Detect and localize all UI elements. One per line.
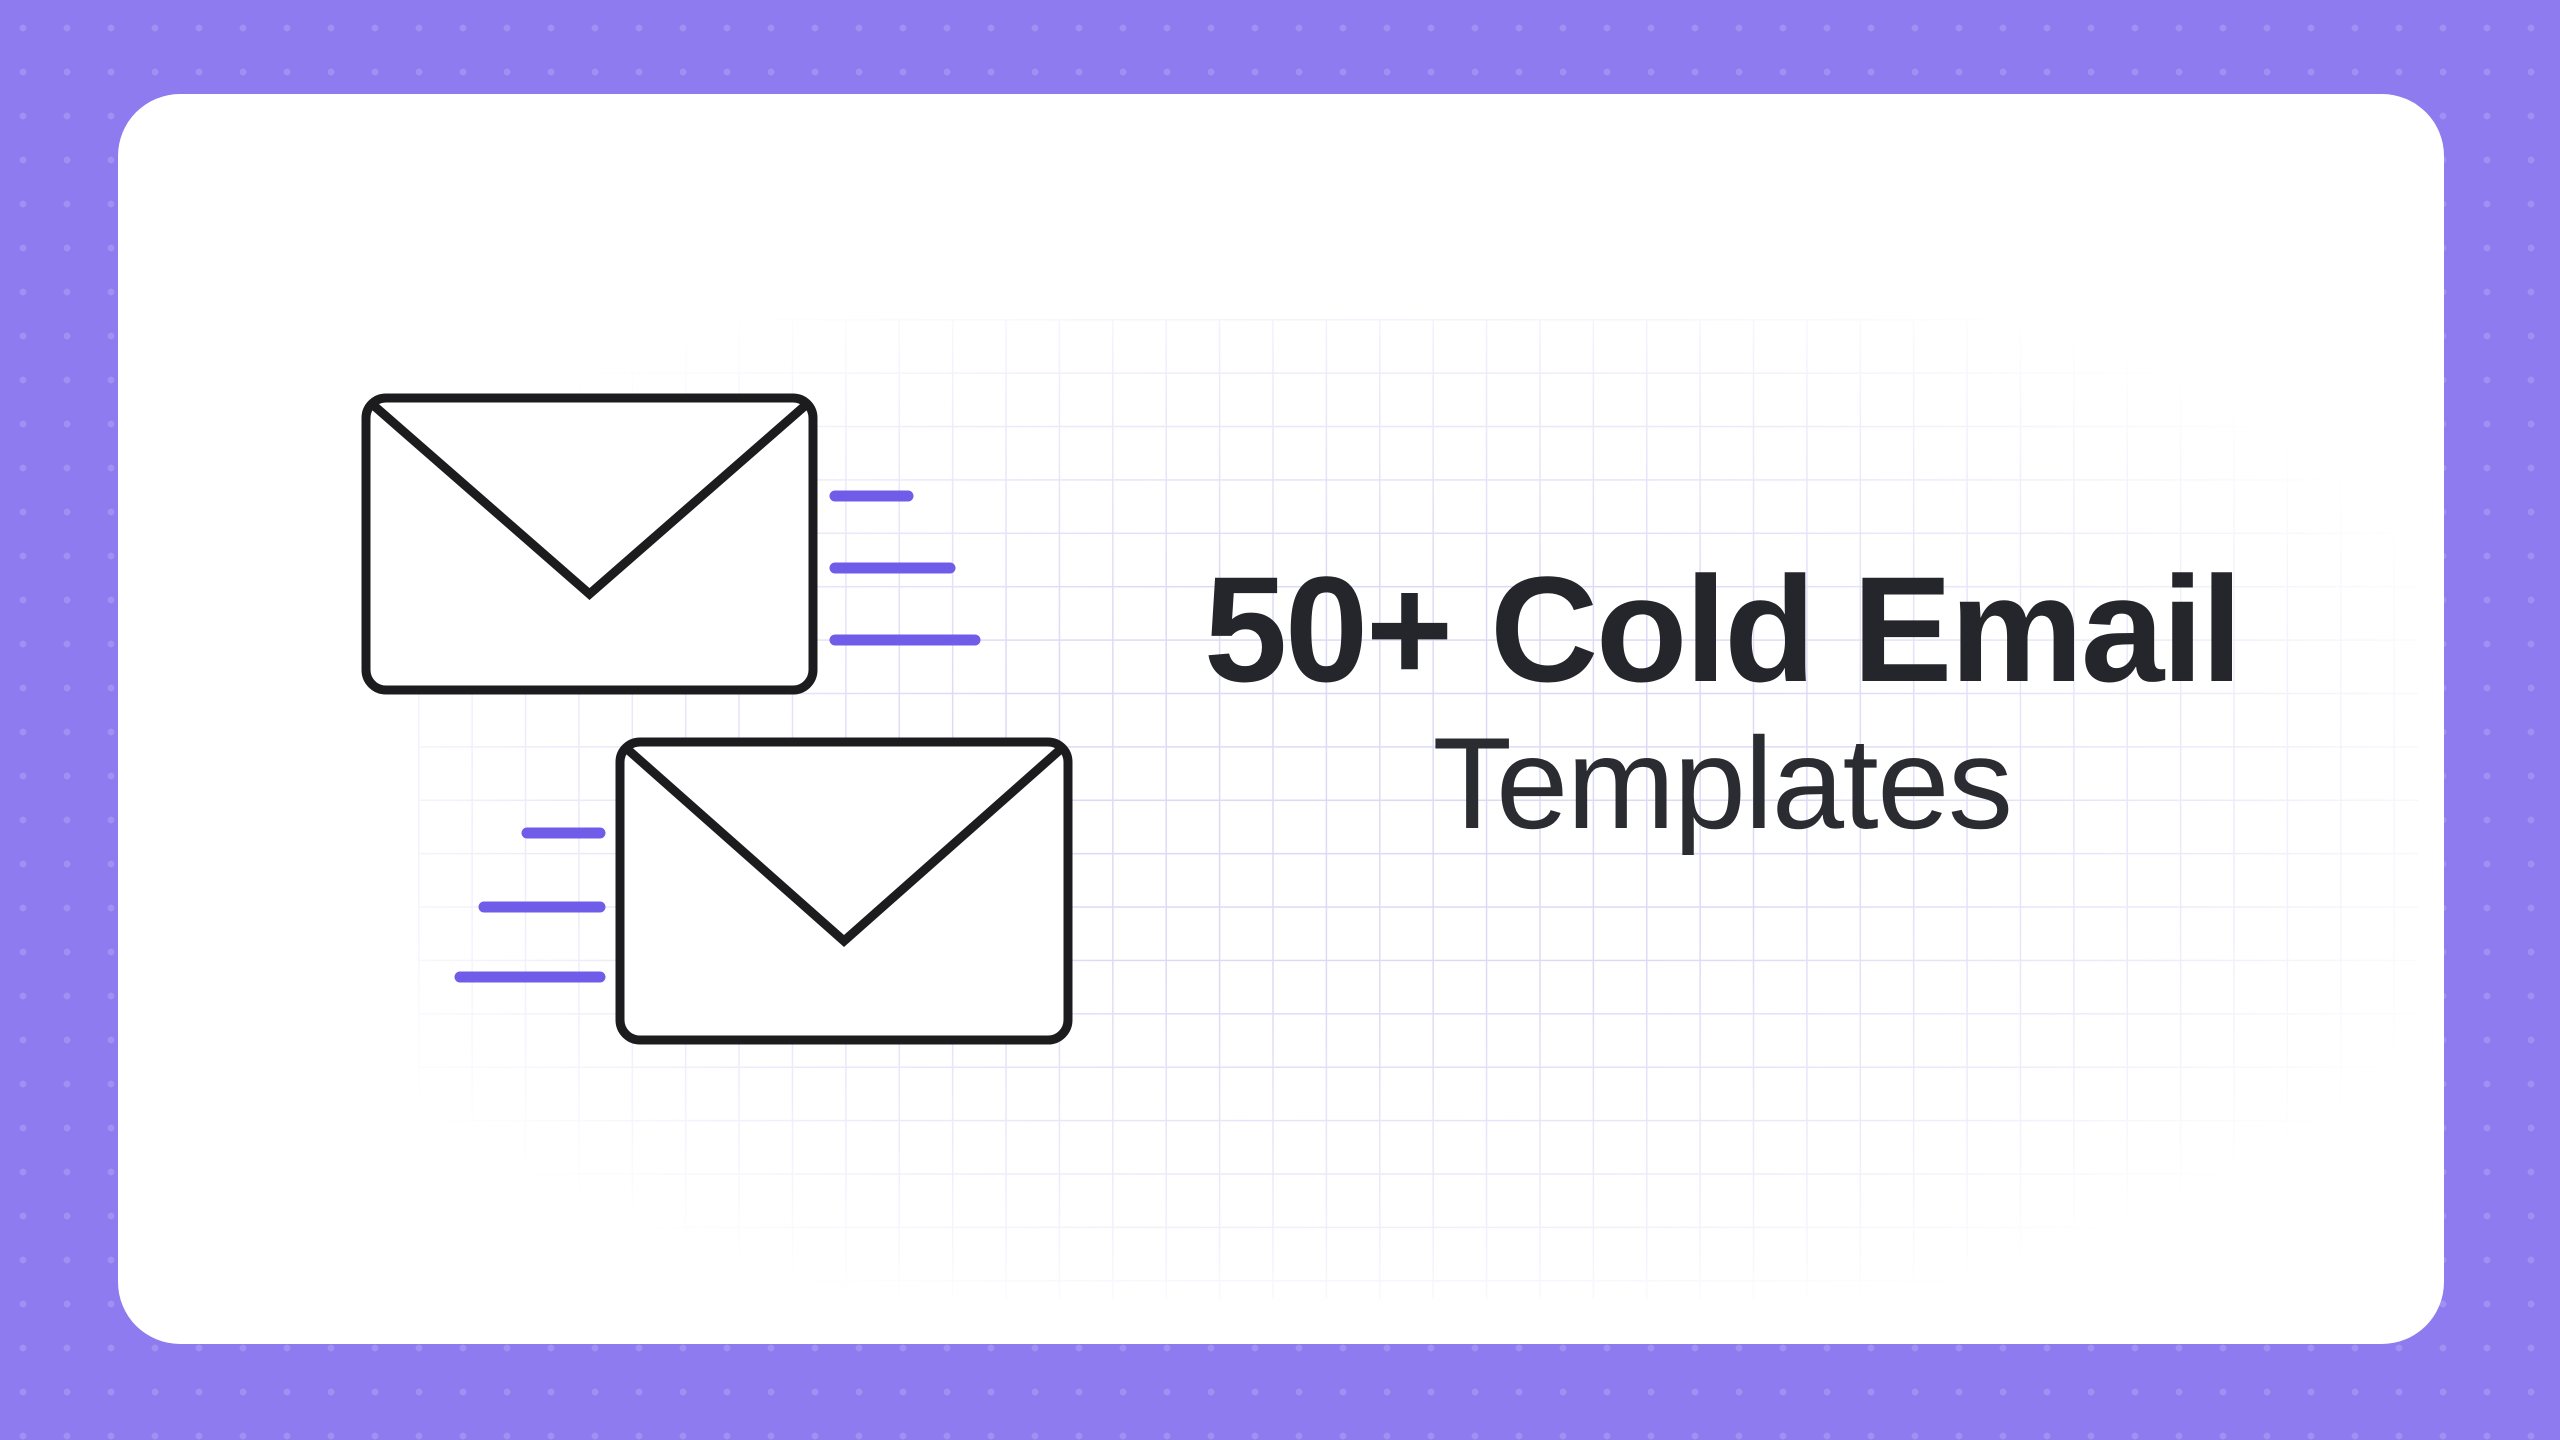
white-content-card: 50+ Cold Email Templates xyxy=(118,94,2444,1344)
envelope-top-speed-lines xyxy=(835,496,975,640)
page-title: 50+ Cold Email xyxy=(1142,554,2302,704)
envelope-bottom-icon xyxy=(620,742,1068,1040)
envelope-top-icon xyxy=(366,398,813,690)
page-subtitle: Templates xyxy=(1142,718,2302,848)
envelope-top-body xyxy=(366,398,813,690)
envelope-bottom-speed-lines xyxy=(460,833,600,977)
envelope-bottom-body xyxy=(620,742,1068,1040)
screenshot-stage: 50+ Cold Email Templates xyxy=(0,0,2560,1440)
title-block: 50+ Cold Email Templates xyxy=(1142,554,2302,848)
